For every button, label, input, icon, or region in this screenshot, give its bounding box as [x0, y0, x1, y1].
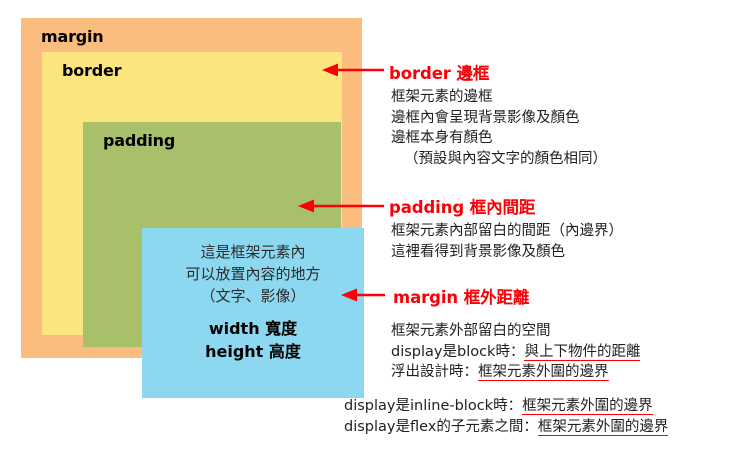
annotation-body-border: 框架元素的邊框 邊框內會呈現背景影像及顏色 邊框本身有顏色 （預設與內容文字的顏… [391, 87, 607, 169]
annotation-margin-rule-3-value: 框架元素外圍的邊界 [522, 398, 653, 415]
content-text-line-1: 這是框架元素內 [200, 242, 305, 264]
annotation-margin-rule-3: display是inline-block時：框架元素外圍的邊界 [344, 396, 668, 417]
margin-layer-label: margin [41, 27, 104, 46]
annotation-heading-margin: margin 框外距離 [393, 284, 529, 308]
annotation-body-margin-wide: display是inline-block時：框架元素外圍的邊界 display是… [344, 396, 668, 437]
padding-layer: padding 這是框架元素內 可以放置內容的地方 （文字、影像） width … [83, 122, 341, 347]
annotation-border-line-1: 框架元素的邊框 [391, 87, 607, 108]
content-text-line-3: （文字、影像） [200, 286, 305, 308]
border-layer-label: border [62, 61, 121, 80]
annotation-border-line-4: （預設與內容文字的顏色相同） [391, 149, 607, 170]
padding-layer-label: padding [103, 131, 175, 150]
annotation-padding-line-2: 這裡看得到背景影像及顏色 [391, 242, 623, 263]
annotation-margin-rule-1-prefix: display是block時： [391, 344, 524, 360]
annotation-margin-rule-2-prefix: 浮出設計時： [391, 364, 478, 380]
annotation-margin-rule-4: display是flex的子元素之間：框架元素外圍的邊界 [344, 417, 668, 438]
box-model-diagram: margin border padding 這是框架元素內 可以放置內容的地方 … [21, 18, 362, 358]
annotation-margin-line-1: 框架元素外部留白的空間 [391, 321, 640, 342]
annotation-body-margin: 框架元素外部留白的空間 display是block時：與上下物件的距離 浮出設計… [391, 321, 640, 383]
annotation-margin-rule-2: 浮出設計時：框架元素外圍的邊界 [391, 362, 640, 383]
border-layer: border padding 這是框架元素內 可以放置內容的地方 （文字、影像）… [42, 52, 342, 335]
content-text-line-2: 可以放置內容的地方 [185, 264, 320, 286]
margin-layer: margin border padding 這是框架元素內 可以放置內容的地方 … [21, 18, 362, 358]
annotation-margin-rule-4-value: 框架元素外圍的邊界 [538, 419, 669, 436]
content-width-label: width 寬度 [209, 318, 297, 340]
content-layer: 這是框架元素內 可以放置內容的地方 （文字、影像） width 寬度 heigh… [142, 228, 364, 398]
annotation-padding-line-1: 框架元素內部留白的間距（內邊界） [391, 221, 623, 242]
annotation-margin-rule-3-prefix: display是inline-block時： [344, 398, 522, 414]
annotation-margin-rule-2-value: 框架元素外圍的邊界 [478, 364, 609, 381]
annotation-heading-padding: padding 框內間距 [389, 194, 535, 218]
annotation-margin-rule-4-prefix: display是flex的子元素之間： [344, 419, 538, 435]
annotation-border-line-3: 邊框本身有顏色 [391, 128, 607, 149]
annotation-border-line-2: 邊框內會呈現背景影像及顏色 [391, 108, 607, 129]
content-height-label: height 高度 [205, 341, 301, 363]
annotation-body-padding: 框架元素內部留白的間距（內邊界） 這裡看得到背景影像及顏色 [391, 221, 623, 262]
annotation-margin-rule-1: display是block時：與上下物件的距離 [391, 342, 640, 363]
annotation-heading-border: border 邊框 [389, 60, 489, 84]
annotation-margin-rule-1-value: 與上下物件的距離 [524, 344, 640, 361]
